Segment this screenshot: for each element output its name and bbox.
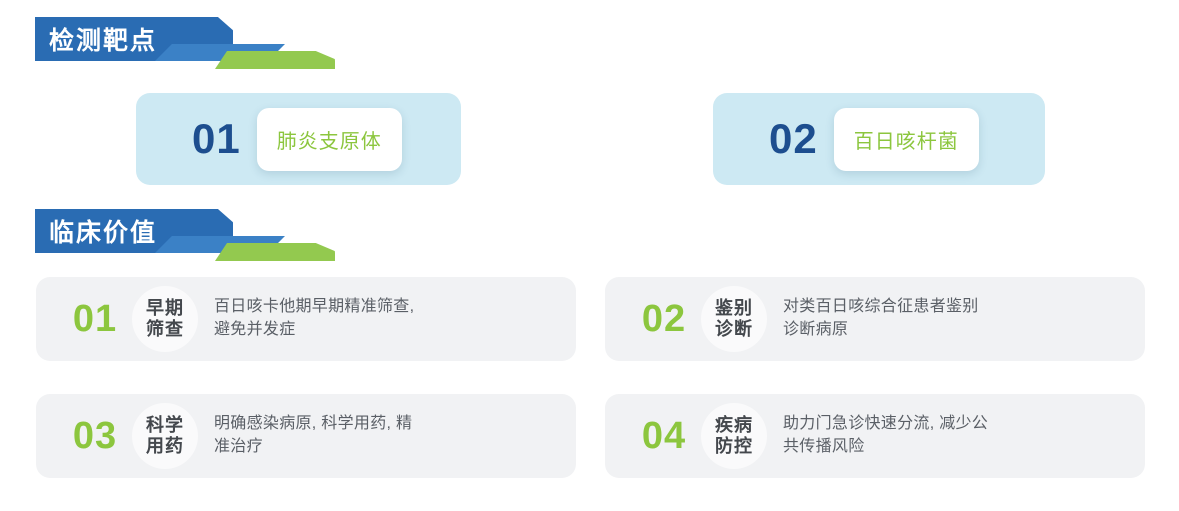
value-badge-line2: 防控 (715, 436, 753, 457)
value-description-01: 百日咳卡他期早期精准筛查, 避免并发症 (214, 296, 414, 341)
section-title-clinical-value: 临床价值 (49, 209, 157, 253)
target-card-02[interactable]: 02 百日咳杆菌 (713, 93, 1045, 185)
value-description-04: 助力门急诊快速分流, 减少公 共传播风险 (783, 413, 988, 458)
value-badge-line2: 用药 (146, 436, 184, 457)
value-number-04: 04 (627, 417, 701, 455)
value-badge-line1: 疾病 (715, 415, 753, 436)
value-badge-line1: 科学 (146, 415, 184, 436)
target-number-02: 02 (769, 118, 818, 160)
poster-root: 检测靶点 01 肺炎支原体 02 百日咳杆菌 临床价值 01 早期 筛查 百日咳… (0, 0, 1179, 511)
value-badge-01: 早期 筛查 (132, 286, 198, 352)
target-label-01: 肺炎支原体 (257, 108, 402, 171)
value-badge-line2: 筛查 (146, 319, 184, 340)
target-number-01: 01 (192, 118, 241, 160)
value-badge-03: 科学 用药 (132, 403, 198, 469)
target-card-01[interactable]: 01 肺炎支原体 (136, 93, 461, 185)
value-description-02: 对类百日咳综合征患者鉴别 诊断病原 (783, 296, 979, 341)
value-number-02: 02 (627, 300, 701, 338)
value-description-03: 明确感染病原, 科学用药, 精 准治疗 (214, 413, 412, 458)
banner-green-stripe-icon (215, 243, 335, 261)
value-badge-04: 疾病 防控 (701, 403, 767, 469)
value-card-01[interactable]: 01 早期 筛查 百日咳卡他期早期精准筛查, 避免并发症 (36, 277, 576, 361)
value-badge-line2: 诊断 (715, 319, 753, 340)
value-card-03[interactable]: 03 科学 用药 明确感染病原, 科学用药, 精 准治疗 (36, 394, 576, 478)
value-badge-line1: 早期 (146, 298, 184, 319)
banner-green-stripe-icon (215, 51, 335, 69)
value-badge-line1: 鉴别 (715, 298, 753, 319)
value-number-03: 03 (58, 417, 132, 455)
value-card-04[interactable]: 04 疾病 防控 助力门急诊快速分流, 减少公 共传播风险 (605, 394, 1145, 478)
section-title-detection-targets: 检测靶点 (49, 17, 157, 61)
value-badge-02: 鉴别 诊断 (701, 286, 767, 352)
value-card-02[interactable]: 02 鉴别 诊断 对类百日咳综合征患者鉴别 诊断病原 (605, 277, 1145, 361)
target-label-02: 百日咳杆菌 (834, 108, 979, 171)
value-number-01: 01 (58, 300, 132, 338)
